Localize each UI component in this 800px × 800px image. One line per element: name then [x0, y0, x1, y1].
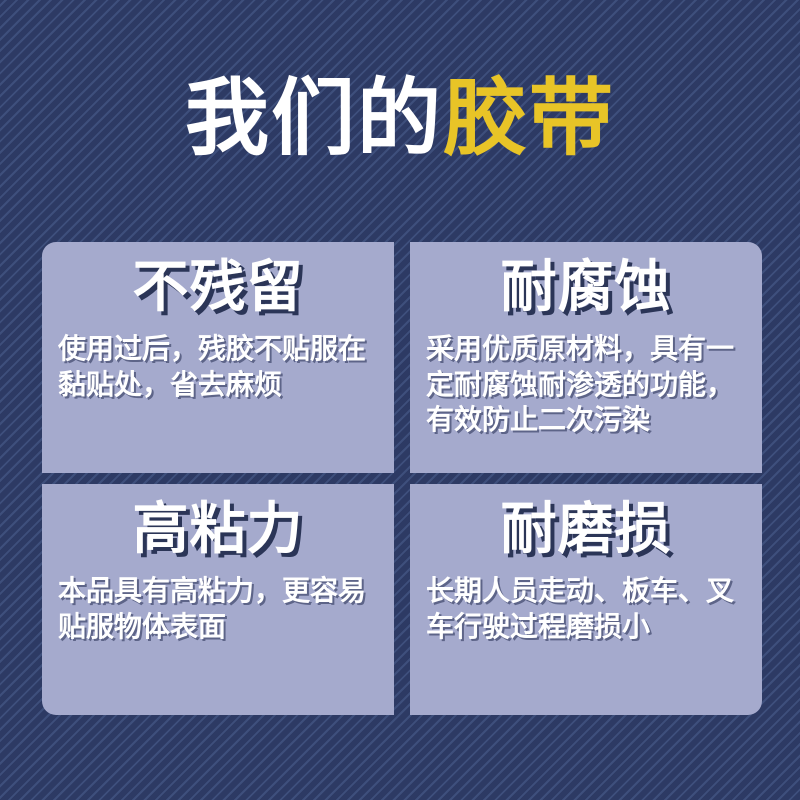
feature-card-body: 采用优质原材料，具有一定耐腐蚀耐渗透的功能，有效防止二次污染	[426, 331, 746, 438]
page-title-leading: 我们的	[185, 71, 443, 165]
poster-canvas: 我们的胶带 不残留 使用过后，残胶不贴服在黏贴处，省去麻烦 耐腐蚀 采用优质原材…	[0, 0, 800, 800]
feature-card-wear-resistant: 耐磨损 长期人员走动、板车、叉车行驶过程磨损小	[410, 484, 762, 715]
feature-card-heading: 不残留	[133, 256, 304, 319]
feature-card-body: 本品具有高粘力，更容易贴服物体表面	[58, 573, 378, 645]
feature-card-body: 长期人员走动、板车、叉车行驶过程磨损小	[426, 573, 746, 645]
feature-card-body: 使用过后，残胶不贴服在黏贴处，省去麻烦	[58, 331, 378, 403]
feature-card-heading: 耐磨损	[501, 498, 672, 561]
feature-card-grid: 不残留 使用过后，残胶不贴服在黏贴处，省去麻烦 耐腐蚀 采用优质原材料，具有一定…	[42, 242, 762, 715]
page-title: 我们的胶带	[0, 76, 800, 160]
feature-card-heading: 耐腐蚀	[501, 256, 672, 319]
feature-card-no-residue: 不残留 使用过后，残胶不贴服在黏贴处，省去麻烦	[42, 242, 394, 473]
feature-card-corrosion-resistant: 耐腐蚀 采用优质原材料，具有一定耐腐蚀耐渗透的功能，有效防止二次污染	[410, 242, 762, 473]
feature-card-high-adhesion: 高粘力 本品具有高粘力，更容易贴服物体表面	[42, 484, 394, 715]
feature-card-heading: 高粘力	[133, 498, 304, 561]
page-title-accent: 胶带	[443, 71, 615, 165]
